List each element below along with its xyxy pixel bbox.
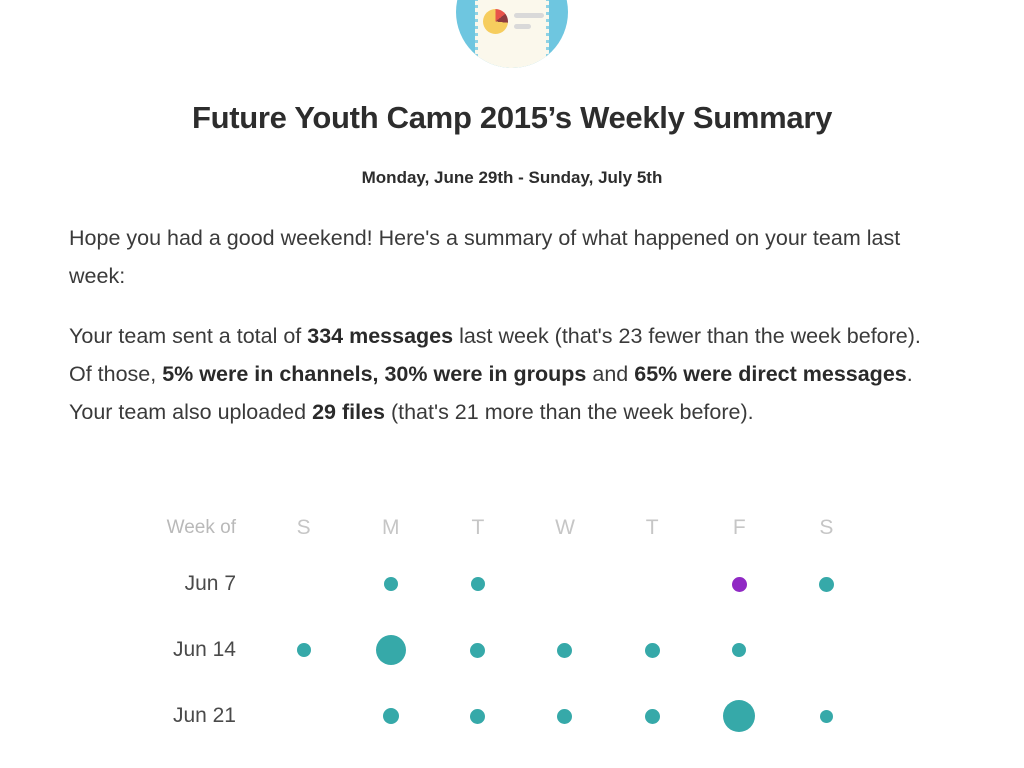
chart-cell (783, 617, 870, 683)
chart-cell (609, 551, 696, 617)
weekly-activity-chart: Week of S M T W T F S Jun 7Jun 14Jun 21 (150, 505, 870, 749)
logo-container (0, 0, 1024, 68)
activity-dot (723, 700, 755, 732)
day-column-fri: F (696, 505, 783, 551)
chart-cell (260, 683, 347, 749)
chart-cell (347, 617, 434, 683)
day-label-sat: S (819, 516, 833, 540)
chart-data-rows: Jun 7Jun 14Jun 21 (150, 551, 870, 749)
day-column-sat: S (783, 505, 870, 551)
chart-cell (609, 617, 696, 683)
chart-cell (347, 683, 434, 749)
chart-row: Jun 21 (150, 683, 870, 749)
activity-dot (383, 708, 399, 724)
chart-header-row: Week of S M T W T F S (150, 505, 870, 551)
report-document-icon (456, 0, 568, 68)
chart-cell (434, 683, 521, 749)
page-title: Future Youth Camp 2015’s Weekly Summary (0, 100, 1024, 136)
chart-cell (260, 617, 347, 683)
chart-cell (434, 551, 521, 617)
stat-total-messages: 334 messages (307, 324, 453, 348)
chart-cell (696, 551, 783, 617)
chart-row: Jun 14 (150, 617, 870, 683)
logo-perforation-right (546, 0, 549, 68)
stat-channels-groups: 5% were in channels, 30% were in groups (162, 362, 586, 386)
chart-cell (783, 683, 870, 749)
chart-row: Jun 7 (150, 551, 870, 617)
day-column-mon: M (347, 505, 434, 551)
chart-cell (521, 617, 608, 683)
activity-dot (732, 577, 747, 592)
pie-chart-icon (483, 9, 508, 34)
activity-dot (557, 709, 572, 724)
stats-paragraph: Your team sent a total of 334 messages l… (69, 317, 929, 431)
day-column-thu: T (609, 505, 696, 551)
activity-dot (732, 643, 746, 657)
stats-part-5: (that's 21 more than the week before). (385, 400, 754, 424)
email-page: Future Youth Camp 2015’s Weekly Summary … (0, 0, 1024, 768)
day-label-wed: W (555, 516, 575, 540)
day-label-sun: S (297, 516, 311, 540)
day-label-mon: M (382, 516, 400, 540)
day-column-sun: S (260, 505, 347, 551)
chart-row-label: Jun 14 (150, 638, 260, 662)
day-label-tue: T (471, 516, 484, 540)
activity-dot (470, 643, 485, 658)
activity-dot (820, 710, 833, 723)
stats-part-1: Your team sent a total of (69, 324, 307, 348)
activity-dot (819, 577, 834, 592)
activity-dot (645, 709, 660, 724)
logo-perforation-left (475, 0, 478, 68)
chart-row-label: Jun 7 (150, 572, 260, 596)
date-range-subtitle: Monday, June 29th - Sunday, July 5th (0, 168, 1024, 188)
chart-cell (521, 551, 608, 617)
activity-dot (297, 643, 311, 657)
stat-files: 29 files (312, 400, 385, 424)
intro-paragraph: Hope you had a good weekend! Here's a su… (69, 219, 929, 295)
day-column-tue: T (434, 505, 521, 551)
activity-dot (376, 635, 406, 665)
activity-dot (471, 577, 485, 591)
chart-cell (696, 683, 783, 749)
chart-cell (260, 551, 347, 617)
stats-part-3: and (586, 362, 634, 386)
chart-cell (521, 683, 608, 749)
activity-dot (557, 643, 572, 658)
chart-cell (609, 683, 696, 749)
chart-cell (696, 617, 783, 683)
chart-row-label: Jun 21 (150, 704, 260, 728)
week-of-label: Week of (150, 517, 260, 539)
logo-paper-shape (475, 0, 549, 68)
day-column-wed: W (521, 505, 608, 551)
logo-text-line-2 (514, 24, 531, 29)
chart-cell (434, 617, 521, 683)
chart-cell (783, 551, 870, 617)
stat-direct-messages: 65% were direct messages (634, 362, 907, 386)
activity-dot (384, 577, 398, 591)
day-label-thu: T (646, 516, 659, 540)
logo-text-line-1 (514, 13, 544, 18)
activity-dot (645, 643, 660, 658)
summary-body: Hope you had a good weekend! Here's a su… (69, 219, 929, 453)
activity-dot (470, 709, 485, 724)
chart-cell (347, 551, 434, 617)
day-label-fri: F (733, 516, 746, 540)
